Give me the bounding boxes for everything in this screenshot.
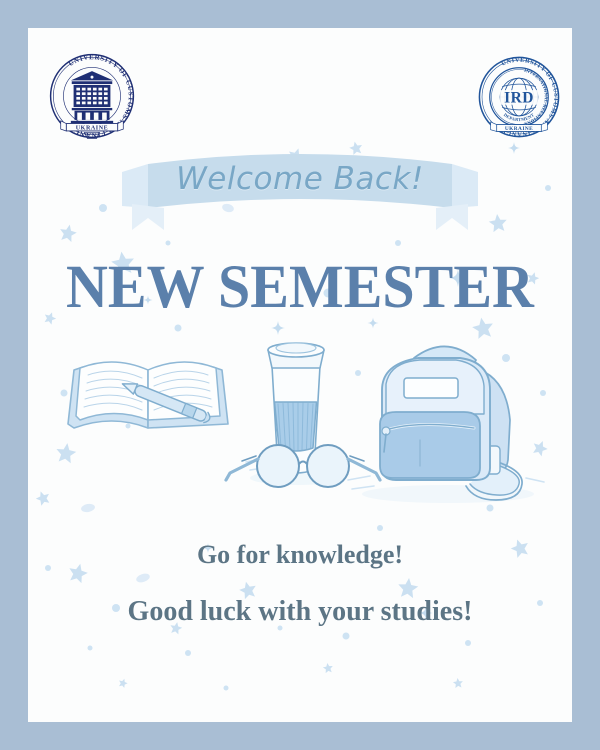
message-line-2: Good luck with your studies! bbox=[28, 596, 572, 628]
open-book-with-pen bbox=[68, 362, 228, 428]
svg-text:UKRAINE: UKRAINE bbox=[76, 125, 109, 131]
university-of-customs-and-finance-seal: UNIVERSITY OF CUSTOMS AND FINANCE bbox=[46, 50, 138, 142]
stationery-illustration bbox=[56, 328, 546, 508]
poster: UNIVERSITY OF CUSTOMS AND FINANCE bbox=[0, 0, 600, 750]
page-title: NEW SEMESTER bbox=[28, 251, 572, 322]
poster-card: UNIVERSITY OF CUSTOMS AND FINANCE bbox=[28, 28, 572, 722]
welcome-back-text: Welcome Back! bbox=[118, 146, 482, 212]
message-line-1: Go for knowledge! bbox=[28, 540, 572, 570]
svg-text:UKRAINE: UKRAINE bbox=[505, 126, 533, 132]
international-relations-department-seal: UNIVERSITY OF CUSTOMS AND FINANCE INTERN… bbox=[476, 54, 562, 140]
svg-text:IRD: IRD bbox=[504, 90, 534, 107]
backpack bbox=[348, 346, 544, 503]
